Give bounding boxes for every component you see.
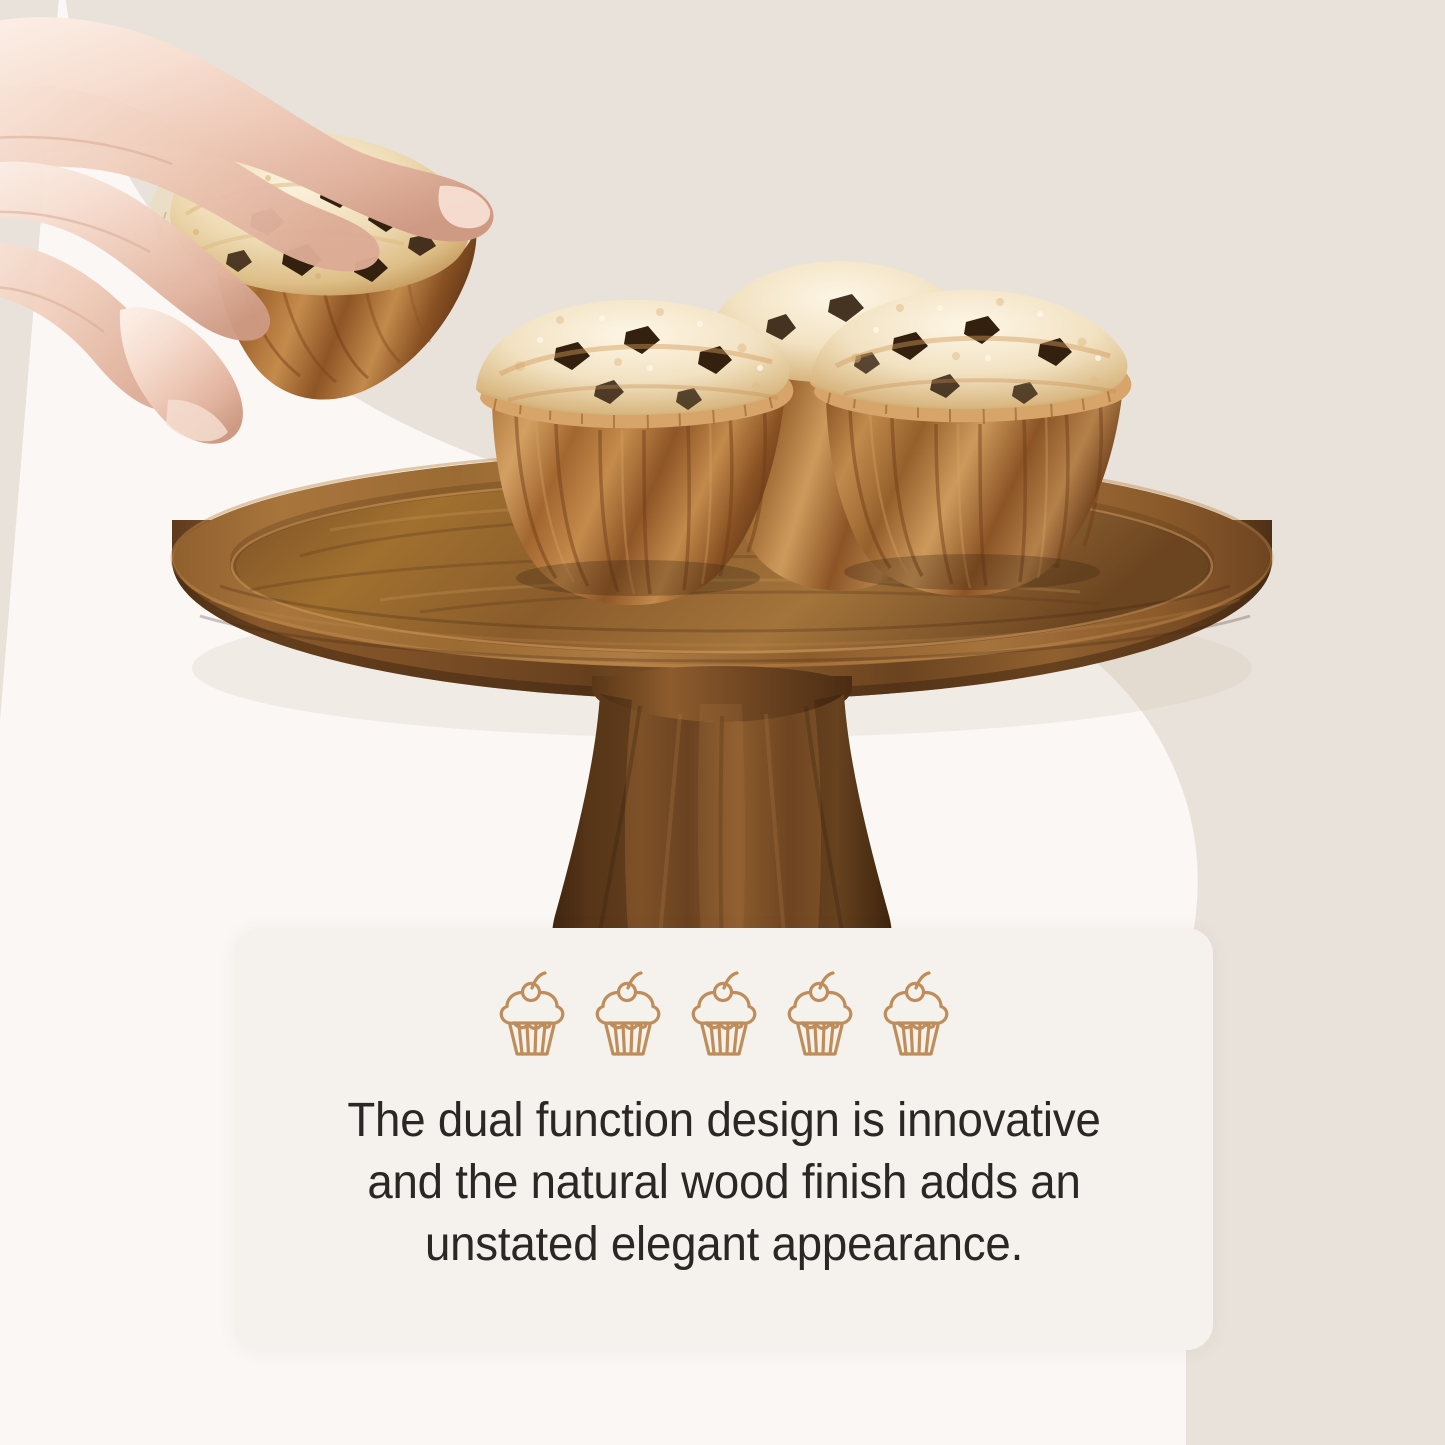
testimonial-quote: The dual function design is innovative a… — [286, 1090, 1162, 1276]
quote-line-3: unstated elegant appearance. — [286, 1214, 1162, 1276]
quote-line-2: and the natural wood finish adds an — [286, 1152, 1162, 1214]
cupcake-icon — [594, 968, 662, 1060]
quote-line-1: The dual function design is innovative — [286, 1090, 1162, 1152]
hand-holding-muffin — [0, 17, 494, 444]
cupcake-icon — [690, 968, 758, 1060]
product-photo — [0, 0, 1445, 960]
cupcake-icon — [786, 968, 854, 1060]
cupcake-icon — [882, 968, 950, 1060]
testimonial-card: The dual function design is innovative a… — [235, 928, 1213, 1350]
cupcake-icon — [498, 968, 566, 1060]
rating-cupcakes — [235, 968, 1213, 1060]
product-image-canvas: The dual function design is innovative a… — [0, 0, 1445, 1445]
